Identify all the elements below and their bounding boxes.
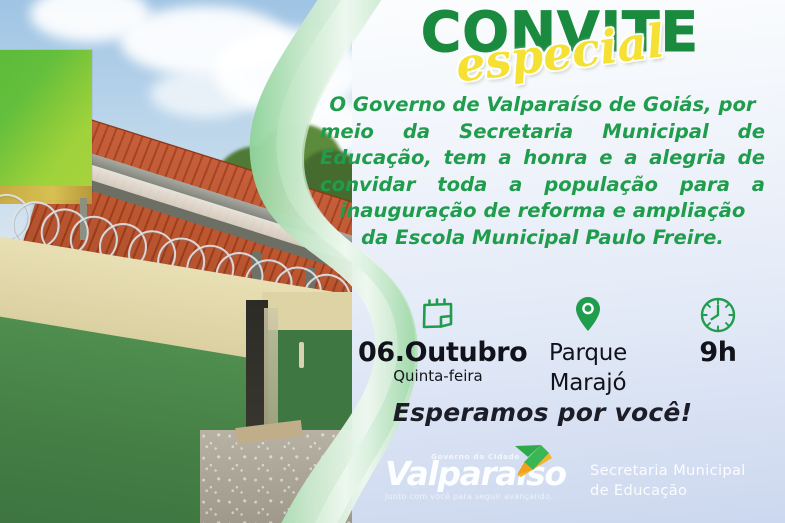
map-pin-icon xyxy=(518,292,658,338)
footer-branding: Governo da Cidade Valparaíso Junto com v… xyxy=(385,448,785,510)
event-date-block: 06.Outubro Quinta-feira xyxy=(358,292,518,385)
event-weekday: Quinta-feira xyxy=(358,367,518,385)
secretariat-label: Secretaria Municipal de Educação xyxy=(590,461,780,501)
event-time-block: 9h xyxy=(658,292,778,368)
event-date-value: 06.Outubro xyxy=(358,338,518,368)
headline-block: CONVITE especial xyxy=(410,4,710,88)
event-place-block: Parque Marajó xyxy=(518,292,658,398)
closing-message: Esperamos por você! xyxy=(320,398,765,427)
secretariat-line-1: Secretaria Municipal xyxy=(590,461,780,481)
invitation-poster: CONVITE especial O Governo de Valparaíso… xyxy=(0,0,785,523)
body-line-5: inauguração de reforma e ampliação xyxy=(320,198,765,225)
body-line-6: da Escola Municipal Paulo Freire. xyxy=(320,225,765,252)
invitation-body-text: O Governo de Valparaíso de Goiás, por me… xyxy=(320,92,765,252)
event-place-value: Parque Marajó xyxy=(518,338,658,398)
event-time-value: 9h xyxy=(658,338,778,368)
body-line-2: meio da Secretaria Municipal de xyxy=(320,119,765,146)
clock-icon xyxy=(658,292,778,338)
invitation-content: CONVITE especial O Governo de Valparaíso… xyxy=(300,0,785,523)
secretariat-line-2: de Educação xyxy=(590,481,780,501)
body-line-3: Educação, tem a honra e a alegria de xyxy=(320,145,765,172)
green-sign-board xyxy=(0,50,92,200)
calendar-icon xyxy=(358,292,518,338)
event-details-row: 06.Outubro Quinta-feira Parque Marajó xyxy=(358,292,778,382)
logo-swoosh-icon xyxy=(511,444,553,478)
body-line-1: O Governo de Valparaíso de Goiás, por xyxy=(320,92,765,119)
valparaiso-logo: Governo da Cidade Valparaíso Junto com v… xyxy=(385,448,575,508)
logo-tagline: Junto com você para seguir avançando. xyxy=(385,492,575,501)
body-line-4: convidar toda a população para a xyxy=(320,172,765,199)
